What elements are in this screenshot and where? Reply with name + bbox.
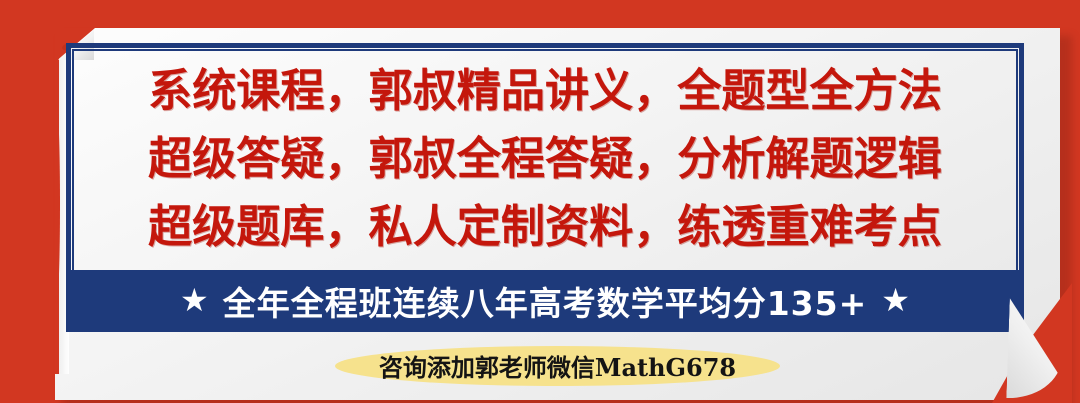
headline-line-1: 系统课程，郭叔精品讲义，全题型全方法 (148, 68, 942, 113)
footer-area: 咨询添加郭老师微信MathG678 (55, 338, 1060, 394)
banner-label: 全年全程班连续八年高考数学平均分135+ (223, 277, 868, 325)
star-icon-right: ★ (881, 284, 910, 316)
star-icon-left: ★ (180, 284, 209, 316)
headline-line-3: 超级题库，私人定制资料，练透重难考点 (148, 204, 942, 249)
headline-line-2: 超级答疑，郭叔全程答疑，分析解题逻辑 (148, 136, 942, 181)
promo-poster: 系统课程，郭叔精品讲义，全题型全方法 超级答疑，郭叔全程答疑，分析解题逻辑 超级… (0, 0, 1080, 403)
achievement-banner: ★ 全年全程班连续八年高考数学平均分135+ ★ (66, 270, 1024, 332)
contact-label: 咨询添加郭老师微信MathG678 (379, 348, 736, 383)
headline-list: 系统课程，郭叔精品讲义，全题型全方法 超级答疑，郭叔全程答疑，分析解题逻辑 超级… (80, 56, 1010, 261)
contact-highlight-pill: 咨询添加郭老师微信MathG678 (335, 346, 780, 386)
